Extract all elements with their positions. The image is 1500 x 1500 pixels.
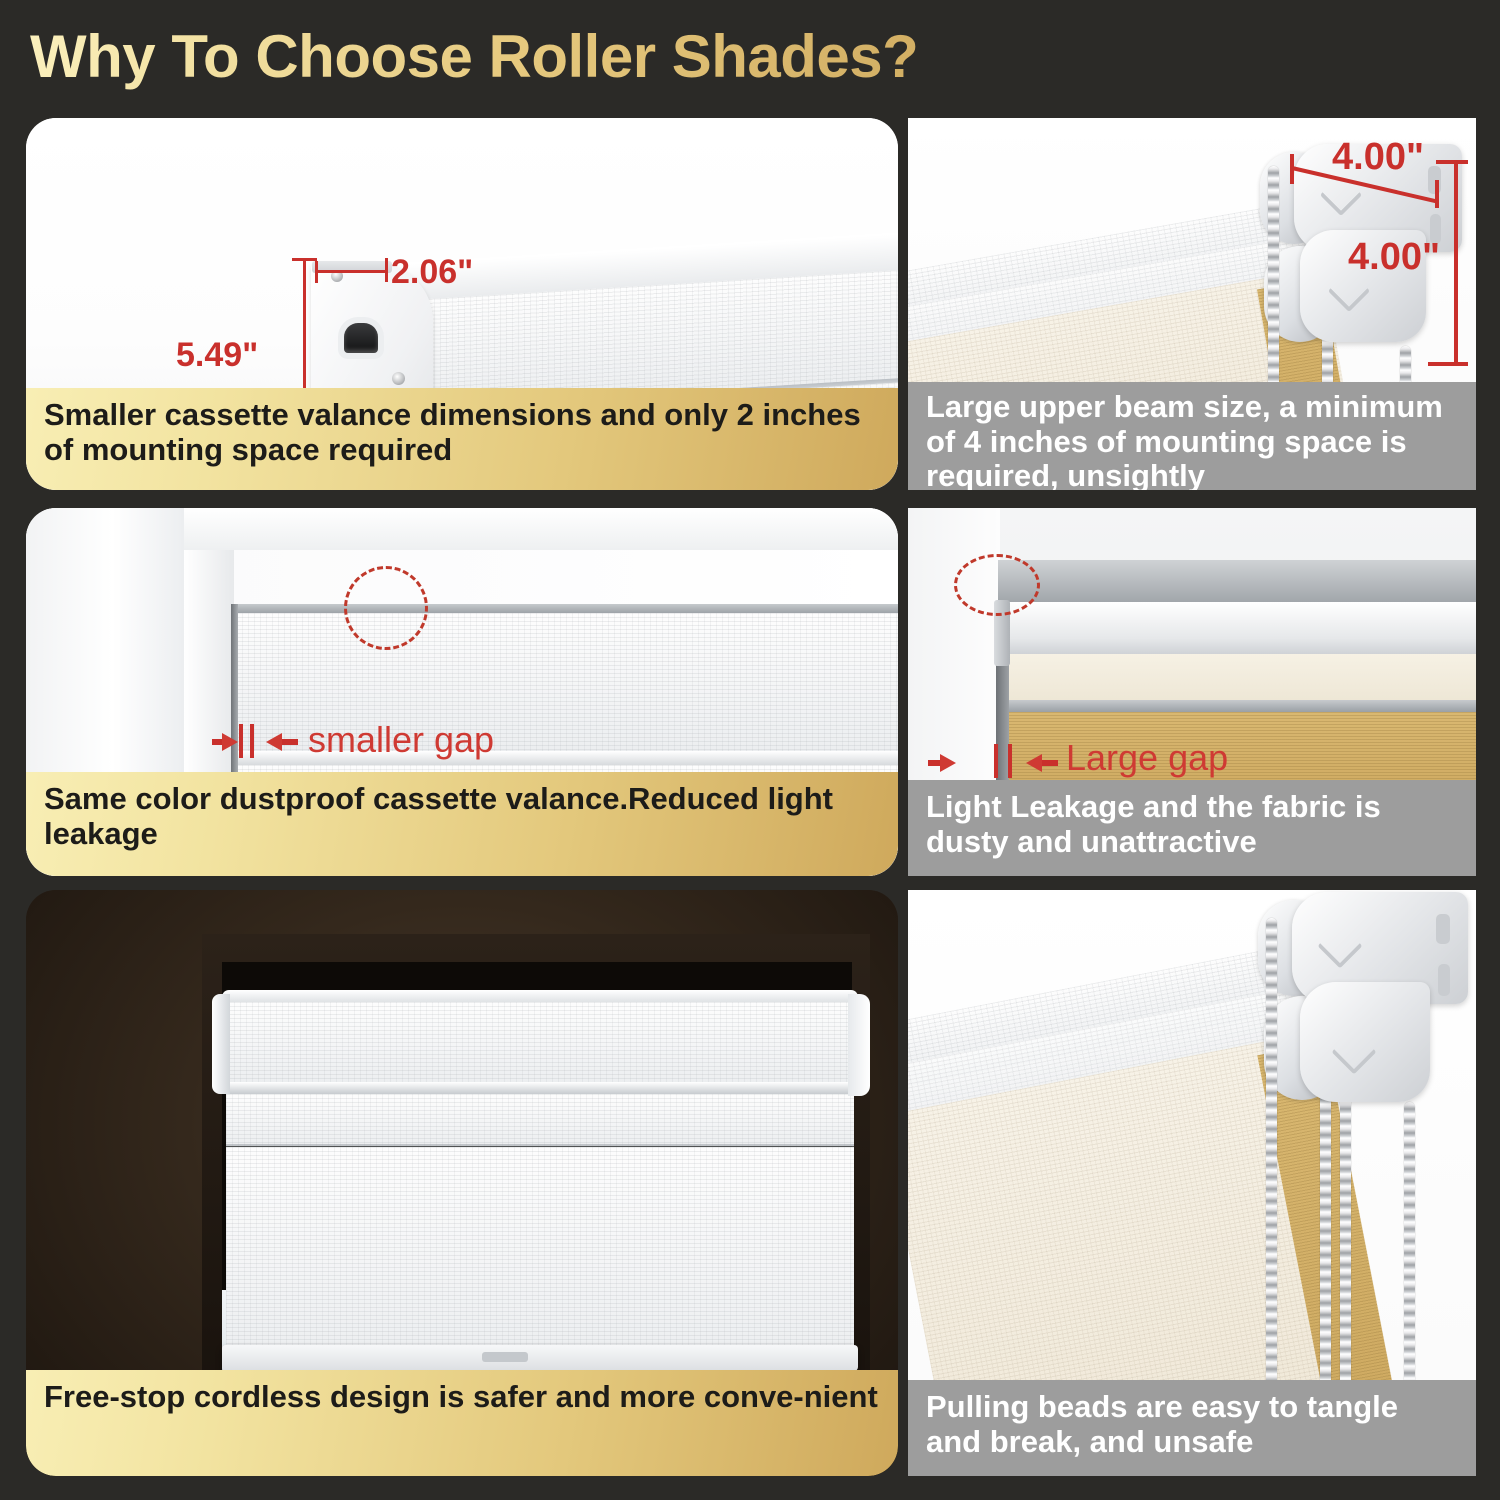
infographic-page: Why To Choose Roller Shades? 2.06" xyxy=(0,0,1500,1500)
headrail-end-cap-right xyxy=(848,994,870,1096)
caption-cordless-design: Free-stop cordless design is safer and m… xyxy=(26,1370,898,1476)
shade-bottom-rail xyxy=(222,1345,858,1371)
caption-dustproof-cassette: Same color dustproof cassette valance.Re… xyxy=(26,772,898,876)
gap-label-large: Large gap xyxy=(1066,737,1228,779)
shade-bottom-rail-grip xyxy=(482,1352,528,1362)
shade-upper-band xyxy=(226,1094,854,1146)
gap-arrow-right-line xyxy=(280,739,298,745)
caption-upper-beam-size: Large upper beam size, a minimum of 4 in… xyxy=(908,382,1476,490)
beam-height-dimension-line xyxy=(1454,160,1458,366)
panel-dustproof-cassette: smaller gap Same color dustproof cassett… xyxy=(26,508,898,876)
width-dimension-tick-left xyxy=(315,261,318,283)
caption-text: Large upper beam size, a minimum of 4 in… xyxy=(926,389,1443,490)
shade-valance xyxy=(222,1002,858,1084)
cassette-head-rail xyxy=(236,604,898,613)
caption-pulling-beads: Pulling beads are easy to tangle and bre… xyxy=(908,1380,1476,1476)
screw-icon-mid xyxy=(392,372,405,385)
panel-pulling-beads: Pulling beads are easy to tangle and bre… xyxy=(908,890,1476,1476)
beam-width-tick-left xyxy=(1290,154,1294,184)
bracket-slot-upper-icon xyxy=(1436,914,1450,944)
caption-cassette-dimensions: Smaller cassette valance dimensions and … xyxy=(26,388,898,490)
height-dimension-label: 5.49" xyxy=(176,336,258,375)
caption-text: Smaller cassette valance dimensions and … xyxy=(44,397,861,467)
gap-arrow-right-line xyxy=(1040,760,1058,766)
caption-light-leakage: Light Leakage and the fabric is dusty an… xyxy=(908,780,1476,876)
shade-main-fabric xyxy=(226,1147,854,1355)
panel-cassette-dimensions: 2.06" 5.49" Smaller cassette valance dim… xyxy=(26,118,898,490)
beam-height-tick-bottom xyxy=(1428,362,1468,366)
gap-arrow-left xyxy=(222,733,238,751)
page-title: Why To Choose Roller Shades? xyxy=(30,22,918,91)
caption-text: Same color dustproof cassette valance.Re… xyxy=(44,781,833,851)
height-dimension-tick-top xyxy=(292,258,317,261)
beam-top-face xyxy=(998,560,1476,604)
beam-height-tick-top xyxy=(1436,160,1468,164)
clutch-slot-icon xyxy=(344,323,378,353)
caption-text: Free-stop cordless design is safer and m… xyxy=(44,1379,878,1414)
headrail-end-cap-left xyxy=(212,994,230,1094)
panel-upper-beam-size: 4.00" 4.00" Large upper beam size, a min… xyxy=(908,118,1476,490)
beam-height-dimension-label: 4.00" xyxy=(1348,236,1440,279)
gap-label-smaller: smaller gap xyxy=(308,719,494,761)
gap-highlight-ring xyxy=(954,554,1040,616)
beam-cream-band xyxy=(998,654,1476,700)
beam-width-dimension-label: 4.00" xyxy=(1332,136,1424,179)
beam-front-face xyxy=(998,602,1476,654)
panel-cordless-design: Free-stop cordless design is safer and m… xyxy=(26,890,898,1476)
gap-tick-a xyxy=(994,744,998,778)
gap-arrow-right xyxy=(266,733,282,751)
beam-bottom-rail xyxy=(998,700,1476,712)
bracket-slot-right-icon xyxy=(1438,964,1450,996)
gap-highlight-ring xyxy=(344,566,428,650)
gap-tick-b xyxy=(1008,744,1012,778)
beam-width-tick-right xyxy=(1435,180,1439,208)
window-frame-top xyxy=(184,508,898,550)
gap-tick-b xyxy=(250,724,254,758)
gap-arrow-right xyxy=(1026,754,1042,772)
panel-light-leakage: Large gap Light Leakage and the fabric i… xyxy=(908,508,1476,876)
shade-band-seam xyxy=(226,1144,854,1147)
shade-valance-rail xyxy=(218,1082,862,1094)
width-dimension-tick-right xyxy=(385,258,388,282)
caption-text: Pulling beads are easy to tangle and bre… xyxy=(926,1389,1398,1459)
gap-arrow-left xyxy=(940,754,956,772)
caption-text: Light Leakage and the fabric is dusty an… xyxy=(926,789,1381,859)
width-dimension-label: 2.06" xyxy=(391,253,473,292)
gap-tick-a xyxy=(239,724,243,758)
width-dimension-line xyxy=(316,270,388,273)
